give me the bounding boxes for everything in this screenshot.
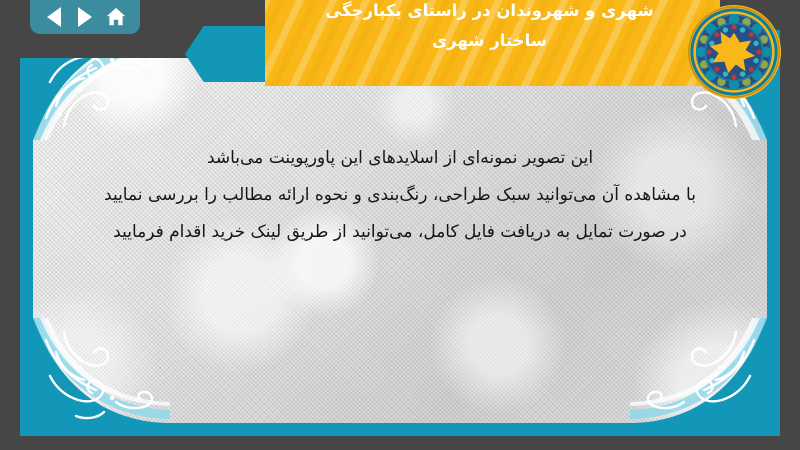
- page-title-line-3: ساختار شهری: [275, 26, 704, 56]
- body-line-2: با مشاهده آن می‌توانید سبک طراحی، رنگ‌بن…: [60, 177, 740, 214]
- presentation-viewer: این تصویر نمونه‌ای از اسلایدهای این پاور…: [0, 0, 800, 450]
- body-line-3: در صورت تمایل به دریافت فایل کامل، می‌تو…: [60, 214, 740, 251]
- home-button[interactable]: [105, 6, 127, 28]
- back-button[interactable]: [43, 6, 65, 28]
- page-title: شهری و شهروندان در راستای یکپارچگی ساختا…: [265, 0, 720, 86]
- navigation-toolbar: [30, 0, 140, 34]
- home-icon: [105, 6, 127, 28]
- persian-mandala-icon: [686, 4, 782, 100]
- slide-title-banner: کامل تحلیل تعامل دوسویه میان مدیریت شهری…: [265, 0, 720, 86]
- forward-button[interactable]: [74, 6, 96, 28]
- body-line-1: این تصویر نمونه‌ای از اسلایدهای این پاور…: [60, 140, 740, 177]
- triangle-right-icon: [78, 7, 92, 27]
- triangle-left-icon: [47, 7, 61, 27]
- slide-body: این تصویر نمونه‌ای از اسلایدهای این پاور…: [60, 140, 740, 251]
- page-title-line-2: شهری و شهروندان در راستای یکپارچگی: [275, 0, 704, 26]
